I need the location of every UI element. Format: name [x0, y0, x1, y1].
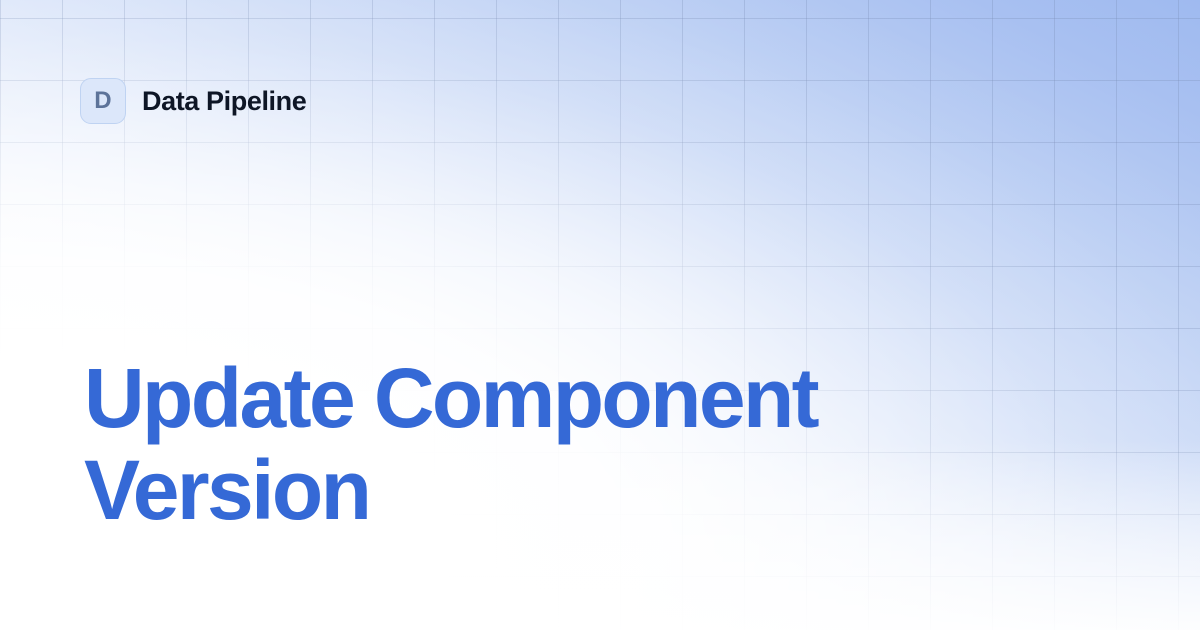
letter-badge-icon: D — [80, 78, 126, 124]
brand-name: Data Pipeline — [142, 88, 306, 115]
page-title: Update Component Version — [84, 352, 1044, 536]
brand-badge-letter: D — [94, 89, 112, 113]
brand: D Data Pipeline — [80, 78, 306, 124]
card-content: D Data Pipeline Update Component Version — [0, 0, 1200, 630]
og-card: D Data Pipeline Update Component Version — [0, 0, 1200, 630]
